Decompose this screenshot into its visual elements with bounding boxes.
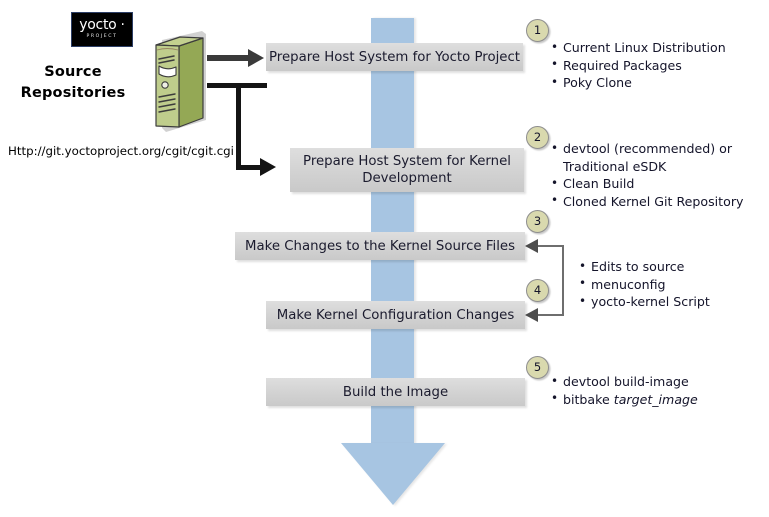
bracket-connector-vertical (562, 245, 564, 316)
steps-3-4-bullet-3: yocto-kernel Script (579, 293, 710, 311)
step-box-2-line-2: Development (303, 170, 511, 187)
connector-server-to-step1-line (207, 55, 249, 61)
step-number-4: 4 (526, 279, 549, 302)
step-number-5: 5 (526, 356, 549, 379)
bracket-connector-branch-step4 (537, 314, 564, 316)
source-repositories-label-line2: Repositories (14, 83, 132, 104)
yocto-logo-wordmark: yocto · (72, 18, 132, 32)
step-number-1: 1 (526, 19, 549, 42)
step-number-2: 2 (526, 126, 549, 149)
connector-server-to-step2-segment-v (236, 83, 241, 170)
step-2-bullet-1: devtool (recommended) or (551, 140, 743, 158)
diagram-canvas: yocto · PROJECT Source Repositories Http… (0, 0, 769, 517)
step-2-bullet-1-continued: Traditional eSDK (551, 158, 743, 176)
step-5-bullets: devtool build-image bitbake target_image (551, 373, 698, 408)
server-tower-icon (132, 28, 210, 138)
step-box-3-line-1: Make Changes to the Kernel Source Files (245, 238, 515, 255)
step-box-5-line-1: Build the Image (343, 384, 448, 401)
step-1-bullets: Current Linux Distribution Required Pack… (551, 39, 726, 92)
connector-server-to-step2-arrowhead-icon (260, 158, 276, 176)
step-box-5[interactable]: Build the Image (266, 378, 525, 406)
source-repositories-label: Source Repositories (14, 62, 132, 104)
step-5-bullet-2-command: bitbake (563, 392, 614, 407)
step-1-bullet-3: Poky Clone (551, 74, 726, 92)
step-number-3: 3 (526, 210, 549, 233)
step-box-2[interactable]: Prepare Host System for Kernel Developme… (290, 148, 524, 192)
step-5-bullet-2-target: target_image (614, 392, 698, 407)
bracket-arrowhead-step3-icon (525, 239, 538, 253)
step-box-4[interactable]: Make Kernel Configuration Changes (266, 301, 525, 329)
step-2-bullet-3: Cloned Kernel Git Repository (551, 193, 743, 211)
step-1-bullet-1: Current Linux Distribution (551, 39, 726, 57)
step-box-1-line-1: Prepare Host System for Yocto Project (269, 49, 520, 66)
yocto-project-logo: yocto · PROJECT (71, 12, 133, 47)
step-5-bullet-2: bitbake target_image (551, 391, 698, 409)
step-2-bullet-2: Clean Build (551, 175, 743, 193)
step-2-bullets: devtool (recommended) or Traditional eSD… (551, 140, 743, 210)
step-5-bullet-1: devtool build-image (551, 373, 698, 391)
step-box-1[interactable]: Prepare Host System for Yocto Project (266, 43, 523, 71)
steps-3-4-bullet-1: Edits to source (579, 258, 710, 276)
bracket-connector-branch-step3 (537, 245, 564, 247)
bracket-arrowhead-step4-icon (525, 308, 538, 322)
step-box-2-line-1: Prepare Host System for Kernel (303, 153, 511, 170)
source-repositories-url: Http://git.yoctoproject.org/cgit/cgit.cg… (8, 144, 234, 158)
yocto-logo-subtitle: PROJECT (72, 34, 132, 40)
step-box-4-line-1: Make Kernel Configuration Changes (277, 307, 515, 324)
source-repositories-label-line1: Source (14, 62, 132, 83)
steps-3-4-bullet-2: menuconfig (579, 276, 710, 294)
connector-server-to-step2-segment-h2 (236, 165, 262, 170)
flow-arrow-head-icon (341, 443, 445, 505)
steps-3-4-shared-bullets: Edits to source menuconfig yocto-kernel … (579, 258, 710, 311)
connector-server-to-step1-arrowhead-icon (248, 49, 264, 67)
step-1-bullet-2: Required Packages (551, 57, 726, 75)
step-box-3[interactable]: Make Changes to the Kernel Source Files (235, 232, 525, 260)
